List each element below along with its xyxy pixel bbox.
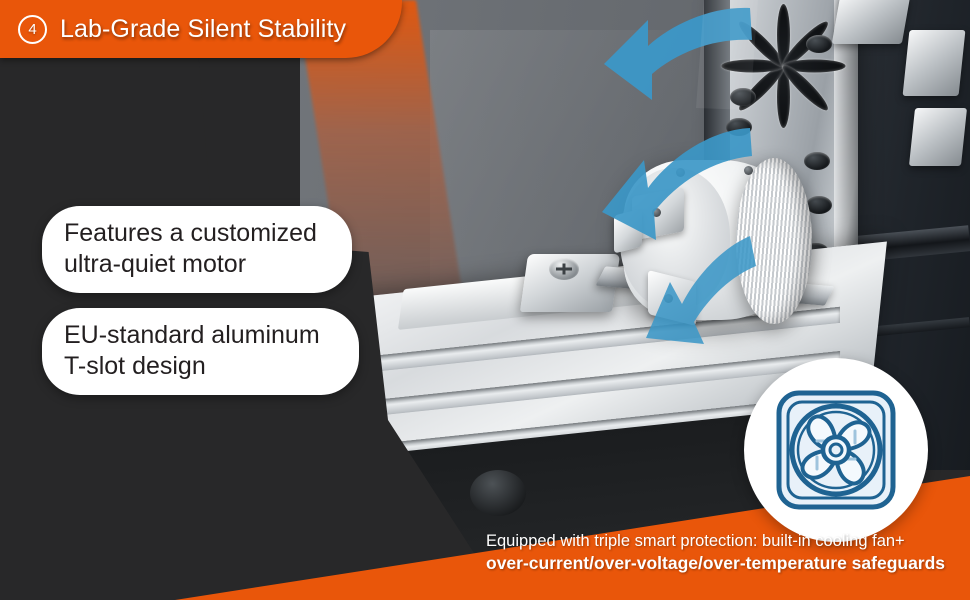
callout-line-2: ultra-quiet motor <box>64 249 330 280</box>
footer-text: Equipped with triple smart protection: b… <box>486 530 970 576</box>
airflow-arrows-icon <box>600 0 900 370</box>
feature-callout-tslot: EU-standard aluminum T-slot design <box>42 308 359 395</box>
callout-line-2: T-slot design <box>64 351 337 382</box>
page-title: Lab-Grade Silent Stability <box>60 15 346 44</box>
base-drum <box>470 470 526 516</box>
cooling-fan-badge <box>744 358 928 542</box>
product-feature-banner: 4 Lab-Grade Silent Stability Features a … <box>0 0 970 600</box>
fixture-block <box>909 108 967 166</box>
feature-callout-motor: Features a customized ultra-quiet motor <box>42 206 352 293</box>
fixture-block <box>903 30 966 96</box>
callout-line-1: EU-standard aluminum <box>64 320 337 351</box>
step-number-badge-icon: 4 <box>18 15 47 44</box>
footer-line-1: Equipped with triple smart protection: b… <box>486 530 970 552</box>
callout-line-1: Features a customized <box>64 218 330 249</box>
section-header-banner: 4 Lab-Grade Silent Stability <box>0 0 402 58</box>
footer-line-2: over-current/over-voltage/over-temperatu… <box>486 552 970 576</box>
screw-head-icon <box>549 258 579 280</box>
step-number: 4 <box>28 22 36 37</box>
cooling-fan-icon <box>771 385 901 515</box>
